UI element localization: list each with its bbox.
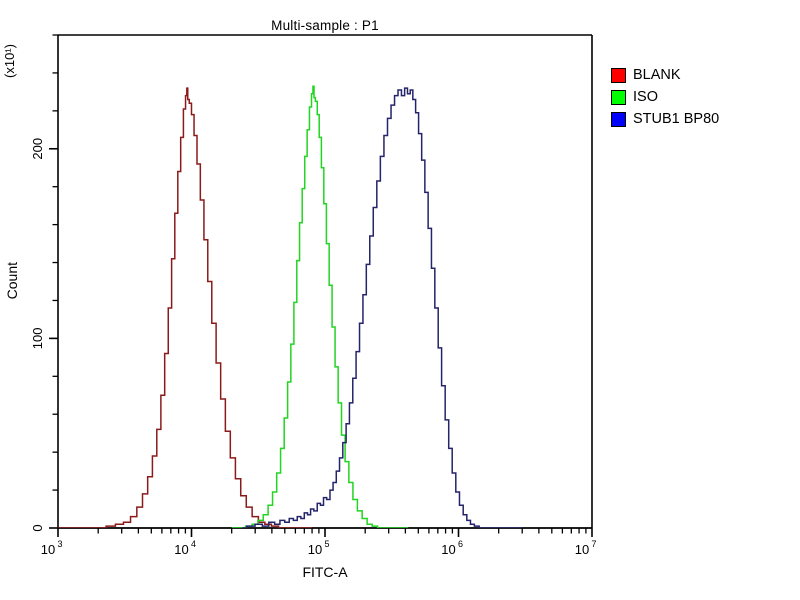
svg-text:10: 10 <box>174 542 188 557</box>
flow-cytometry-histogram: Multi-sample : P1 (x10¹) Count FITC-A 10… <box>0 0 800 600</box>
svg-text:0: 0 <box>30 524 45 531</box>
legend-item: STUB1 BP80 <box>611 108 719 130</box>
series-curves <box>58 86 522 528</box>
series-blank <box>58 88 312 528</box>
x-axis-ticks <box>58 528 592 537</box>
series-stub1-bp80 <box>242 88 522 528</box>
svg-text:5: 5 <box>324 539 329 549</box>
legend-item: ISO <box>611 86 719 108</box>
y-axis-tick-labels: 0100200 <box>30 138 45 532</box>
legend: BLANK ISO STUB1 BP80 <box>611 64 719 130</box>
legend-label-stub1: STUB1 BP80 <box>633 111 719 127</box>
plot-frame <box>58 35 592 528</box>
svg-text:3: 3 <box>57 539 62 549</box>
svg-text:10: 10 <box>441 542 455 557</box>
svg-text:6: 6 <box>458 539 463 549</box>
legend-swatch-stub1 <box>611 112 626 127</box>
svg-text:10: 10 <box>575 542 589 557</box>
legend-label-iso: ISO <box>633 89 658 105</box>
svg-text:10: 10 <box>41 542 55 557</box>
y-axis-ticks <box>49 35 58 528</box>
svg-text:100: 100 <box>30 328 45 350</box>
svg-text:7: 7 <box>591 539 596 549</box>
svg-text:10: 10 <box>308 542 322 557</box>
legend-swatch-iso <box>611 90 626 105</box>
legend-swatch-blank <box>611 68 626 83</box>
svg-text:200: 200 <box>30 138 45 160</box>
legend-label-blank: BLANK <box>633 67 681 83</box>
x-axis-tick-labels: 103104105106107 <box>41 539 597 557</box>
legend-item: BLANK <box>611 64 719 86</box>
svg-text:4: 4 <box>191 539 196 549</box>
series-iso <box>232 86 409 528</box>
